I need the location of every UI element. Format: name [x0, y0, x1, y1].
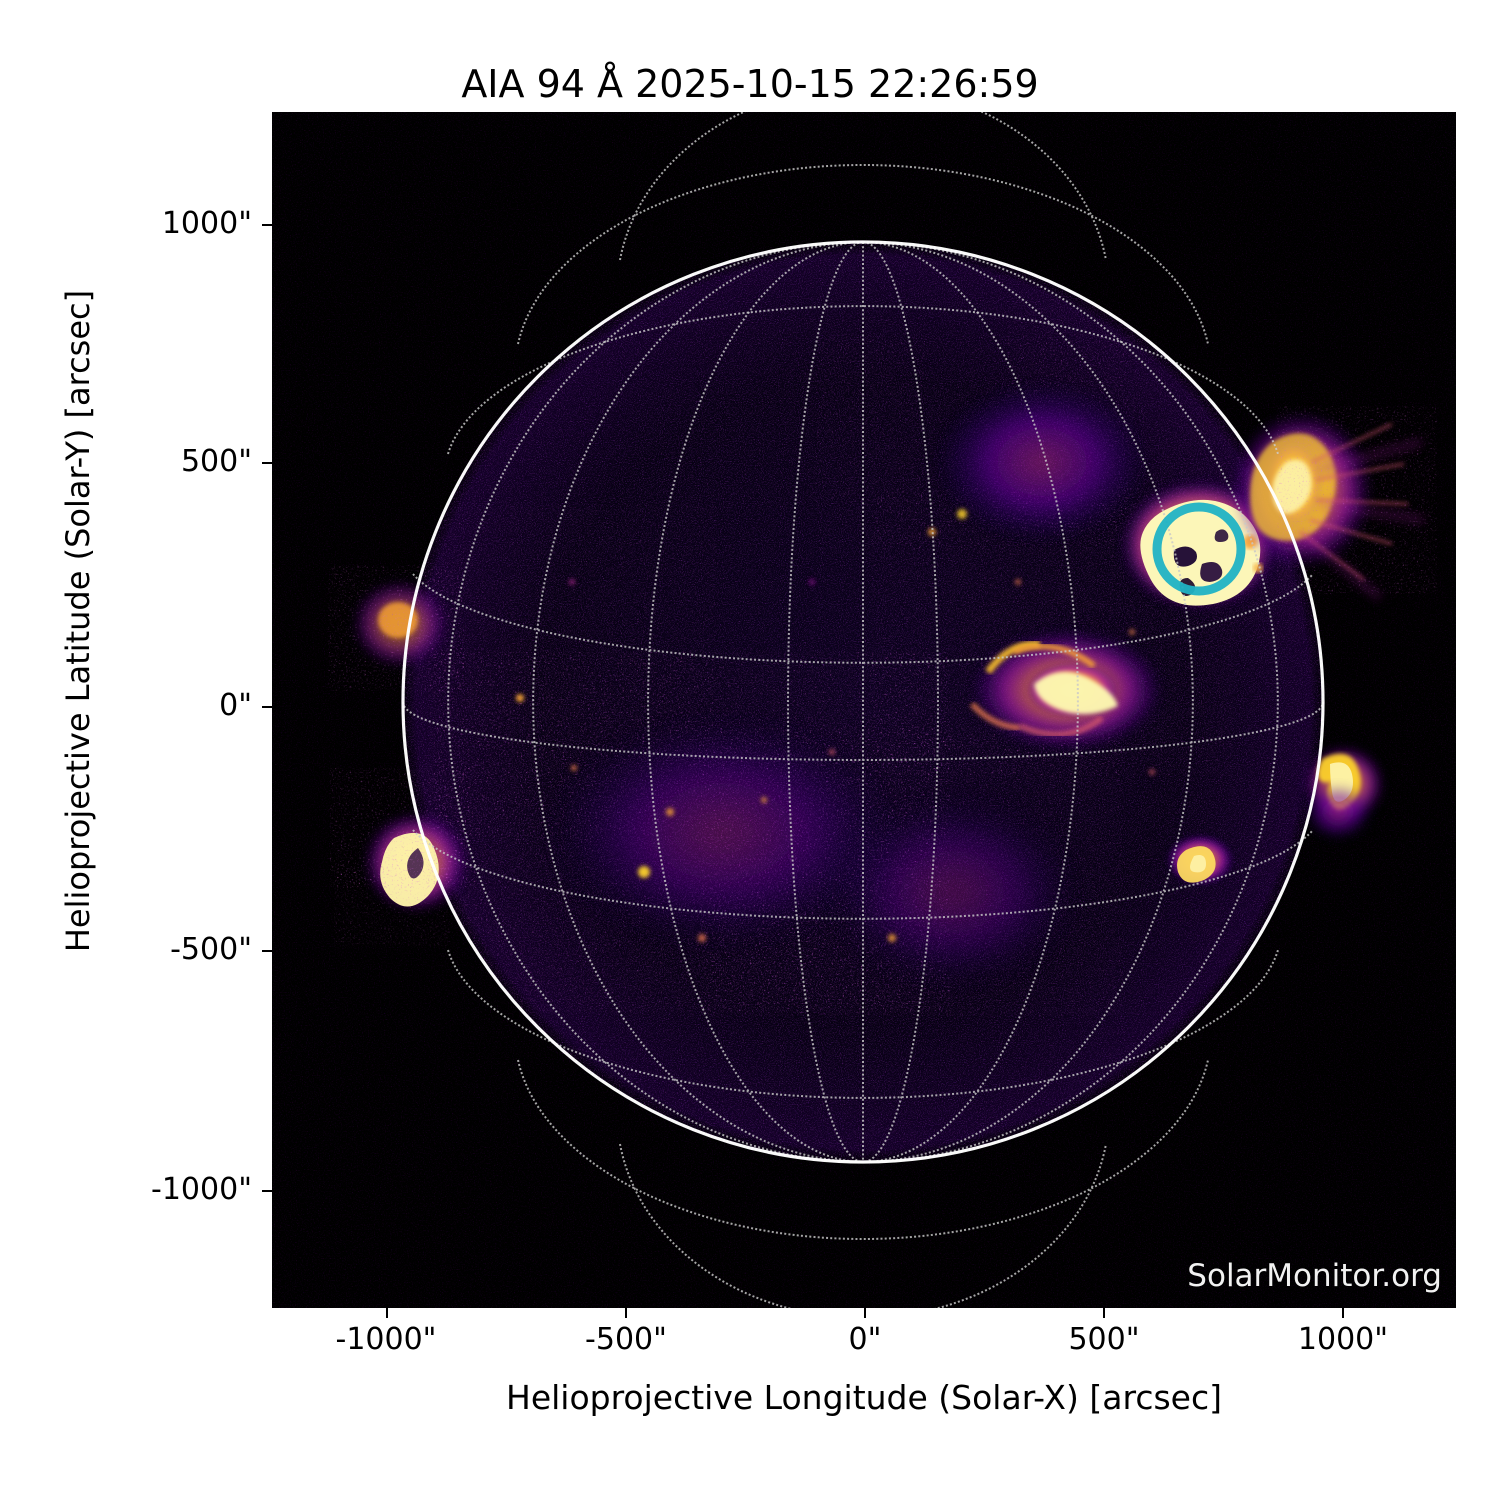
xtick-mark	[386, 1308, 388, 1318]
ytick-mark	[262, 706, 272, 708]
xtick-mark	[1342, 1308, 1344, 1318]
solar-image-figure: AIA 94 Å 2025-10-15 22:26:59	[0, 0, 1500, 1500]
limb-region-nw	[340, 576, 452, 680]
y-axis-label: Helioprojective Latitude (Solar-Y) [arcs…	[59, 171, 97, 1071]
active-region-se	[1166, 834, 1234, 886]
xtick-mark	[1103, 1308, 1105, 1318]
xtick-label: 1000"	[1243, 1322, 1443, 1357]
xtick-mark	[625, 1308, 627, 1318]
xtick-label: 0"	[765, 1322, 965, 1357]
ytick-label: -1000"	[62, 1172, 252, 1207]
ytick-mark	[262, 224, 272, 226]
watermark: SolarMonitor.org	[1187, 1258, 1442, 1294]
ytick-mark	[262, 462, 272, 464]
active-region-center-east	[972, 630, 1162, 750]
xtick-label: -500"	[526, 1322, 726, 1357]
xtick-label: 500"	[1004, 1322, 1204, 1357]
page-title: AIA 94 Å 2025-10-15 22:26:59	[0, 62, 1500, 106]
x-axis-label: Helioprojective Longitude (Solar-X) [arc…	[272, 1378, 1456, 1417]
solar-disk-render	[272, 112, 1456, 1308]
ytick-mark	[262, 950, 272, 952]
solar-image-plot[interactable]: SolarMonitor.org	[272, 112, 1456, 1308]
xtick-mark	[864, 1308, 866, 1318]
ytick-mark	[262, 1190, 272, 1192]
xtick-label: -1000"	[286, 1322, 486, 1357]
